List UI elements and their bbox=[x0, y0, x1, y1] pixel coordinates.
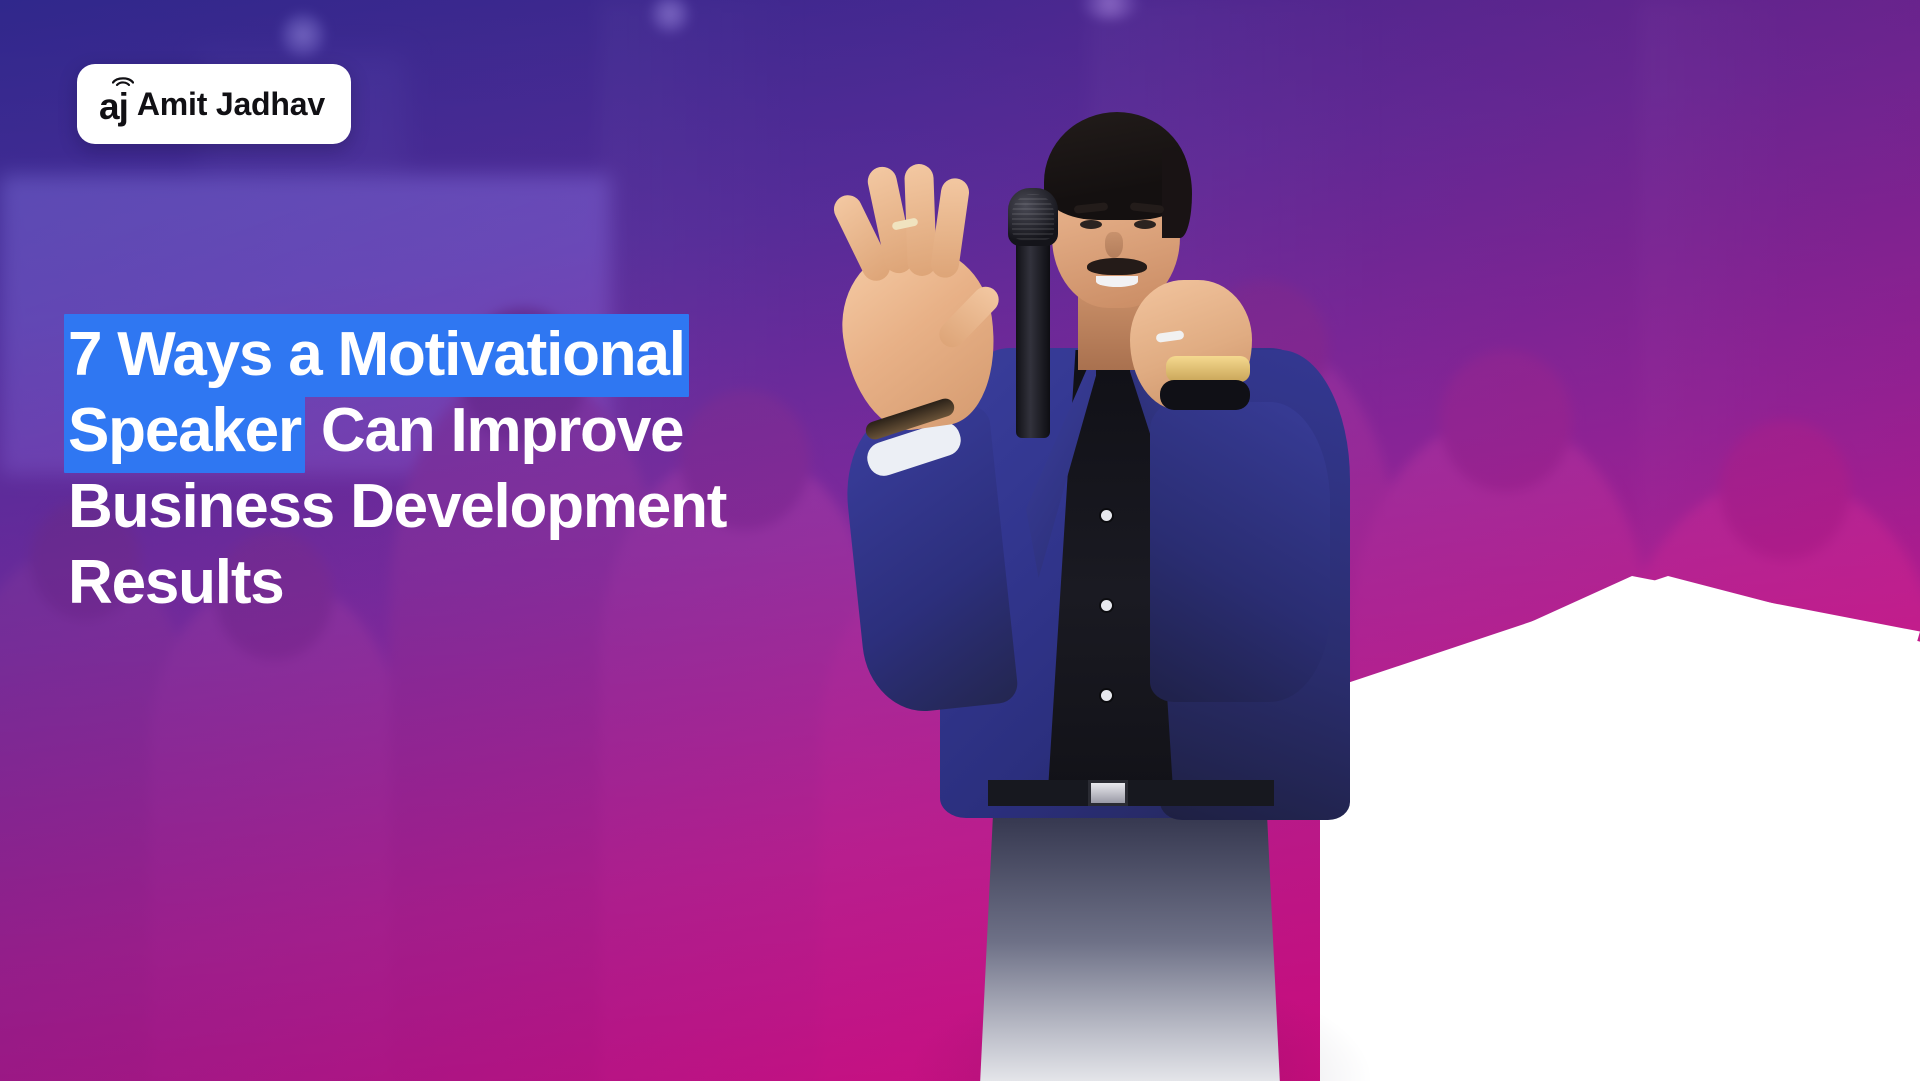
speaker-belt bbox=[988, 780, 1274, 806]
speaker-eye-left bbox=[1080, 220, 1102, 229]
shirt-button bbox=[1101, 600, 1112, 611]
headline-highlight-1: 7 Ways a Motivational bbox=[64, 314, 689, 397]
headline: 7 Ways a Motivational Speaker Can Improv… bbox=[68, 318, 898, 622]
speaker-moustache bbox=[1087, 258, 1147, 275]
logo-monogram: aj bbox=[99, 84, 128, 125]
shirt-button bbox=[1101, 510, 1112, 521]
microphone-grille bbox=[1012, 194, 1054, 240]
speaker-cuff-right bbox=[1160, 380, 1250, 410]
headline-line-2-rest: Can Improve bbox=[305, 390, 683, 473]
headline-line-4: Results bbox=[68, 546, 898, 620]
headline-line-2: Speaker Can Improve bbox=[68, 394, 898, 468]
headline-line-3: Business Development bbox=[68, 470, 898, 544]
wifi-arc-icon bbox=[112, 73, 134, 86]
speaker-nose bbox=[1105, 232, 1123, 258]
brand-name: Amit Jadhav bbox=[137, 86, 325, 123]
shirt-button bbox=[1101, 690, 1112, 701]
headline-highlight-2: Speaker bbox=[64, 390, 305, 473]
speaker-photo-cutout bbox=[830, 80, 1450, 1081]
speaker-arm-right bbox=[1150, 402, 1330, 702]
speaker-belt-buckle bbox=[1088, 780, 1128, 806]
speaker-wristwatch bbox=[1166, 356, 1250, 382]
headline-line-4-text: Results bbox=[68, 542, 284, 625]
headline-line-3-text: Business Development bbox=[68, 466, 726, 549]
logo-monogram-text: aj bbox=[99, 86, 128, 127]
speaker-eye-right bbox=[1134, 220, 1156, 229]
blog-hero-banner: aj Amit Jadhav 7 Ways a Motivational Spe… bbox=[0, 0, 1920, 1081]
brand-logo-badge[interactable]: aj Amit Jadhav bbox=[77, 64, 351, 144]
speaker-mouth bbox=[1096, 276, 1138, 287]
microphone-body bbox=[1016, 228, 1050, 438]
headline-line-1: 7 Ways a Motivational bbox=[68, 318, 898, 392]
